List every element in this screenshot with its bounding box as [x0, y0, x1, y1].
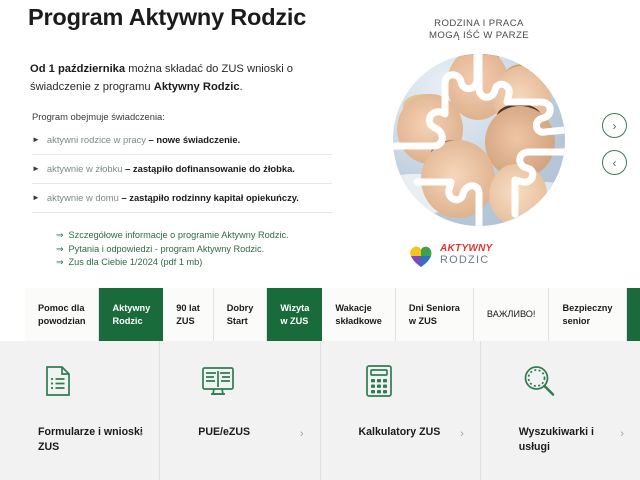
card-formularze-i-wnioski-zus[interactable]: Formularze i wnioski ZUS ›	[0, 341, 160, 480]
logo-line-2: RODZIC	[440, 254, 493, 266]
card-label: PUE/eZUS	[198, 425, 303, 440]
logo-line-1: AKTYWNY	[440, 243, 493, 254]
family-photo	[393, 54, 565, 226]
list-item[interactable]: ► aktywni rodzice w pracy – nowe świadcz…	[32, 126, 332, 155]
list-item[interactable]: ► aktywnie w żłobku – zastąpiło dofinans…	[32, 155, 332, 184]
card-label: Wyszukiwarki i usługi	[519, 425, 624, 455]
puzzle-overlay-icon	[393, 54, 565, 226]
tab-wizyta-w-zus[interactable]: Wizyta w ZUS	[267, 288, 322, 341]
tab-vazhlyvo[interactable]: ВАЖЛИВО!	[474, 288, 550, 341]
document-list-icon	[38, 361, 78, 401]
logo-text: AKTYWNY RODZIC	[440, 243, 493, 266]
arrow-right-icon: ⇒	[56, 229, 64, 243]
quick-services: Formularze i wnioski ZUS › PUE/eZUS ›	[0, 341, 640, 480]
list-item-tail: – nowe świadczenie.	[149, 134, 241, 145]
chevron-left-icon: ‹	[613, 157, 617, 169]
list-item-lead: aktywni rodzice w pracy	[47, 134, 146, 145]
link-label: Szczegółowe informacje o programie Aktyw…	[69, 229, 289, 243]
card-pue-ezus[interactable]: PUE/eZUS ›	[160, 341, 320, 480]
family-circle-graphic	[379, 40, 579, 240]
hero-section: Program Aktywny Rodzic Od 1 października…	[0, 0, 640, 285]
list-item[interactable]: ► aktywnie w domu – zastąpiło rodzinny k…	[32, 184, 332, 213]
arrow-right-icon: ⇒	[56, 243, 64, 257]
hero-claim-line1: RODZINA I PRACA	[368, 18, 590, 30]
chevron-right-icon: ›	[460, 428, 464, 440]
tab-pomoc-dla-powodzian[interactable]: Pomoc dla powodzian	[25, 288, 99, 341]
list-intro: Program obejmuje świadczenia:	[32, 111, 165, 122]
list-item-tail: – zastąpiło dofinansowanie do żłobka.	[125, 163, 295, 174]
page-title: Program Aktywny Rodzic	[28, 4, 306, 31]
arrow-right-icon: ⇒	[56, 256, 64, 270]
chevron-right-icon: ›	[613, 120, 617, 132]
list-item-tail: – zastąpiło rodzinny kapitał opiekuńczy.	[121, 192, 298, 203]
tab-wakacje-skladkowe[interactable]: Wakacje składkowe	[322, 288, 395, 341]
aktywny-rodzic-logo: AKTYWNY RODZIC	[408, 240, 548, 270]
tab-aktywny-rodzic[interactable]: Aktywny Rodzic	[99, 288, 163, 341]
tab-list: Pomoc dla powodzian Aktywny Rodzic 90 la…	[25, 288, 640, 341]
benefits-list: ► aktywni rodzice w pracy – nowe świadcz…	[32, 126, 332, 213]
campaign-tabbar: Pomoc dla powodzian Aktywny Rodzic 90 la…	[25, 288, 640, 341]
related-links: ⇒ Szczegółowe informacje o programie Akt…	[56, 229, 289, 270]
triangle-bullet-icon: ►	[32, 191, 40, 204]
card-kalkulatory-zus[interactable]: Kalkulatory ZUS ›	[321, 341, 481, 480]
triangle-bullet-icon: ►	[32, 162, 40, 175]
tab-bezpieczny-senior[interactable]: Bezpieczny senior	[549, 288, 626, 341]
hero-lead-bold-program: Aktywny Rodzic	[154, 81, 240, 93]
chevron-right-icon: ›	[140, 428, 144, 440]
tab-dobry-start[interactable]: Dobry Start	[214, 288, 268, 341]
heart-puzzle-icon	[408, 244, 434, 268]
tab-90-lat-zus[interactable]: 90 lat ZUS	[163, 288, 214, 341]
calculator-icon	[359, 361, 399, 401]
triangle-bullet-icon: ►	[32, 133, 40, 146]
card-label: Formularze i wnioski ZUS	[38, 425, 143, 455]
chevron-right-icon: ›	[300, 428, 304, 440]
link-label: Pytania i odpowiedzi - program Aktywny R…	[69, 243, 265, 257]
link-faq[interactable]: ⇒ Pytania i odpowiedzi - program Aktywny…	[56, 243, 289, 257]
zus-homepage: Program Aktywny Rodzic Od 1 października…	[0, 0, 640, 480]
hero-claim: RODZINA I PRACA MOGĄ IŚĆ W PARZE	[368, 18, 590, 41]
card-wyszukiwarki-i-uslugi[interactable]: Wyszukiwarki i usługi ›	[481, 341, 640, 480]
list-item-lead: aktywnie w domu	[47, 192, 119, 203]
card-label: Kalkulatory ZUS	[359, 425, 464, 440]
link-details[interactable]: ⇒ Szczegółowe informacje o programie Akt…	[56, 229, 289, 243]
monitor-icon	[198, 361, 238, 401]
tab-dni-seniora-w-zus[interactable]: Dni Seniora w ZUS	[396, 288, 474, 341]
hero-lead-bold-date: Od 1 października	[30, 63, 125, 75]
link-pdf[interactable]: ⇒ Zus dla Ciebie 1/2024 (pdf 1 mb)	[56, 256, 289, 270]
carousel-prev-button[interactable]: ‹	[602, 150, 627, 175]
hero-lead-end: .	[240, 81, 243, 93]
magnifier-icon	[519, 361, 559, 401]
carousel-next-button[interactable]: ›	[602, 113, 627, 138]
hero-illustration: RODZINA I PRACA MOGĄ IŚĆ W PARZE	[368, 4, 590, 280]
link-label: Zus dla Ciebie 1/2024 (pdf 1 mb)	[69, 256, 203, 270]
hero-lead-paragraph: Od 1 października można składać do ZUS w…	[30, 60, 342, 96]
chevron-right-icon: ›	[620, 428, 624, 440]
list-item-lead: aktywnie w żłobku	[47, 163, 123, 174]
